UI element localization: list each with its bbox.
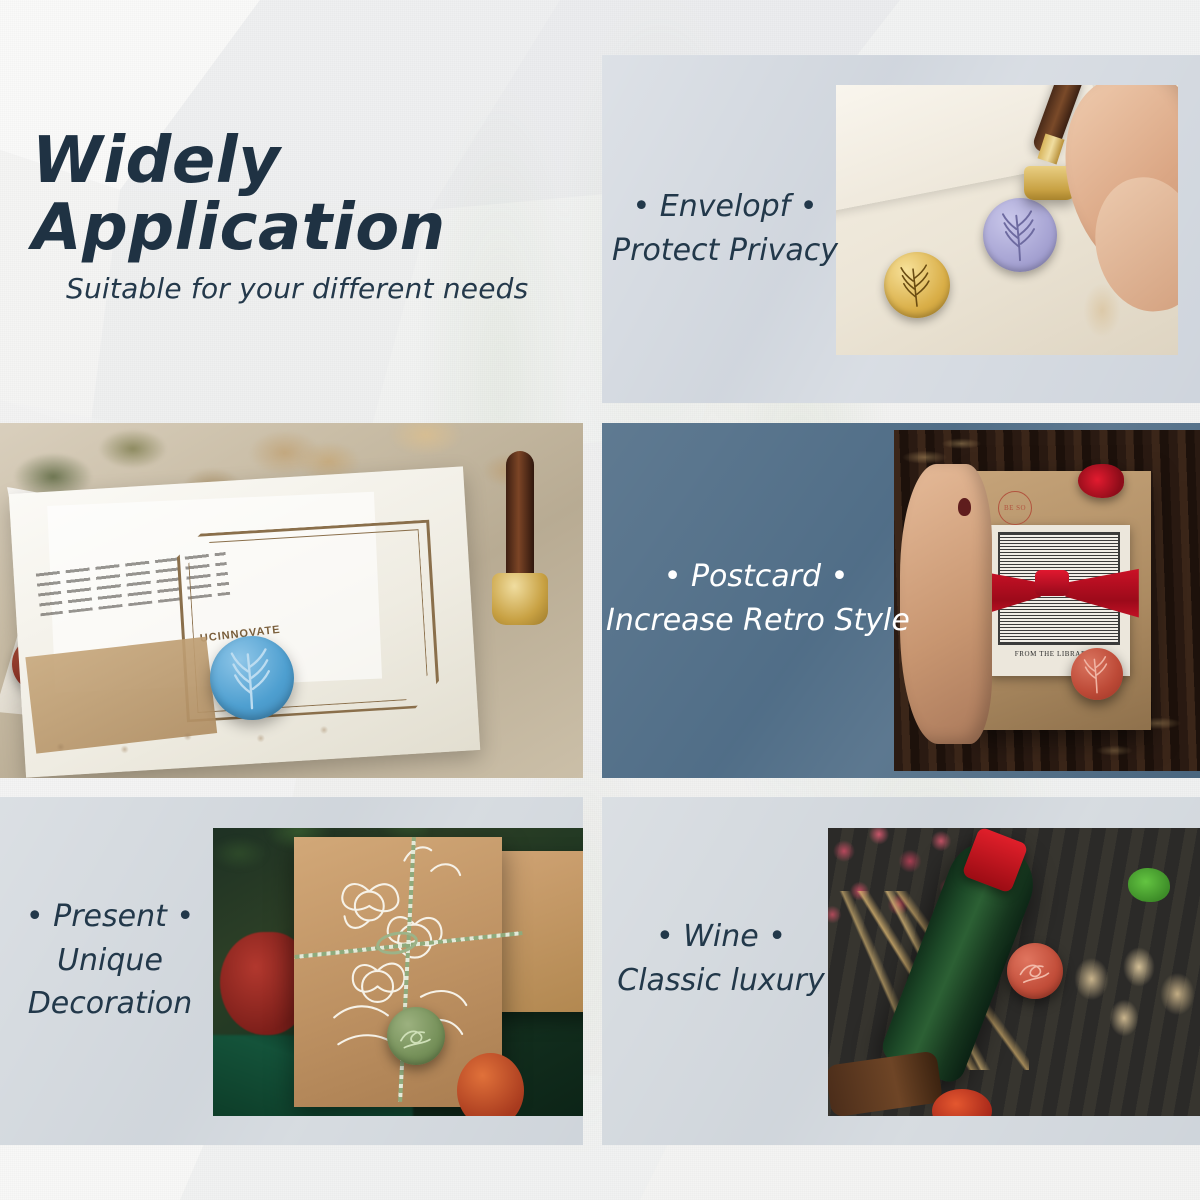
ribbon-knot <box>1035 570 1069 596</box>
page-subtitle: Suitable for your different needs <box>66 272 586 305</box>
botanical-sprig-icon <box>1071 648 1123 700</box>
christmas-gift-green-seal-photo <box>213 828 583 1116</box>
gold-wax-seal <box>884 252 950 318</box>
panel-card-photo: UCINNOVATE <box>0 423 583 778</box>
caption-body-2: Decoration <box>10 982 210 1026</box>
caption-postcard: • Postcard • Increase Retro Style <box>606 555 906 642</box>
caption-present: • Present • Unique Decoration <box>10 895 210 1026</box>
caption-heading: • Present • <box>10 895 210 939</box>
lavender-wax-seal <box>983 198 1057 272</box>
red-wax-seal <box>1071 648 1123 700</box>
red-wax-seal <box>1007 943 1063 999</box>
green-wax-seal <box>387 1007 445 1065</box>
caption-envelope: • Envelopf • Protect Privacy <box>610 185 840 272</box>
caption-heading: • Postcard • <box>606 555 906 599</box>
stamp-handle <box>506 451 534 581</box>
caption-wine: • Wine • Classic luxury <box>612 915 830 1002</box>
caption-heading: • Envelopf • <box>610 185 840 229</box>
kraft-parcel-red-ribbon-photo: FROM THE LIBRARY OF BE SO <box>894 430 1200 771</box>
title-panel: Widely Application Suitable for your dif… <box>0 0 600 404</box>
script-monogram-icon <box>387 1007 445 1065</box>
botanical-sprig-icon <box>884 252 950 318</box>
page-title: Widely Application <box>32 128 572 262</box>
stamp-brass-base <box>492 573 548 625</box>
greeting-card-blue-seal-photo: UCINNOVATE <box>0 423 583 778</box>
envelope-wax-seal-photo <box>836 85 1178 355</box>
caption-body: Increase Retro Style <box>606 599 906 643</box>
hand-holding-parcel <box>900 464 992 744</box>
circular-brand-stamp: BE SO <box>998 491 1032 525</box>
green-succulent <box>1128 868 1170 902</box>
script-monogram-icon <box>1007 943 1063 999</box>
wooden-stamp-tool <box>492 451 548 651</box>
caption-body-1: Unique <box>10 939 210 983</box>
poppy-seed-pods <box>1059 943 1200 1093</box>
caption-body: Classic luxury <box>612 959 830 1003</box>
blue-wax-seal <box>210 636 294 720</box>
painted-fingernail <box>958 498 971 516</box>
wine-bottle-red-seal-photo <box>828 828 1200 1116</box>
caption-heading: • Wine • <box>612 915 830 959</box>
botanical-sprig-icon <box>983 198 1057 272</box>
red-flower <box>1078 464 1124 498</box>
botanical-sprig-icon <box>210 636 294 720</box>
caption-body: Protect Privacy <box>610 229 840 273</box>
greeting-card-sheet: UCINNOVATE <box>9 466 480 777</box>
circular-stamp-text: BE SO <box>999 492 1031 524</box>
